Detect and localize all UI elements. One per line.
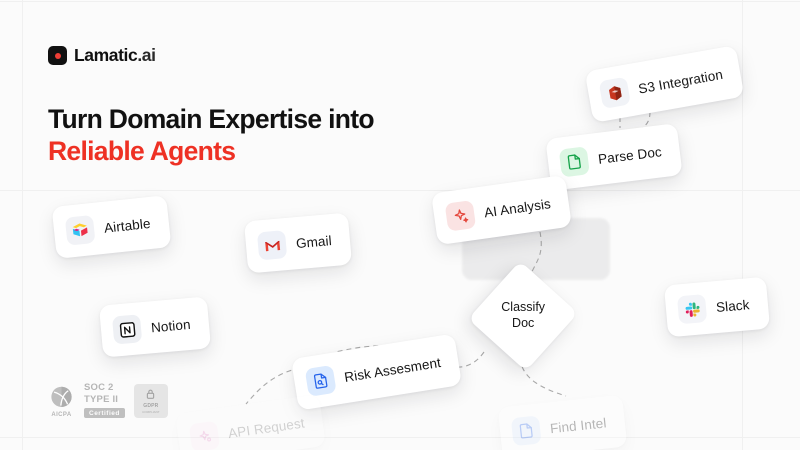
soc2-line-1: SOC 2 (84, 383, 125, 394)
node-card-gmail[interactable]: Gmail (244, 213, 352, 274)
sparkle-icon (445, 200, 477, 232)
certified-badge: Certified (84, 408, 125, 418)
soc2-badge: SOC 2 TYPE II Certified (84, 383, 125, 418)
gdpr-sublabel: COMPLIANT (142, 410, 160, 414)
node-label: S3 Integration (637, 66, 724, 96)
aicpa-badge: AICPA (48, 384, 75, 418)
node-label: AI Analysis (483, 196, 552, 220)
aws-s3-icon (599, 77, 631, 109)
grid-line-vertical (22, 0, 23, 450)
compliance-badges: AICPA SOC 2 TYPE II Certified GDPR COMPL… (48, 383, 168, 418)
page-title: Turn Domain Expertise into Reliable Agen… (48, 103, 374, 168)
grid-line-horizontal (0, 437, 800, 438)
airtable-icon (65, 215, 96, 246)
soc2-line-2: TYPE II (84, 395, 125, 406)
node-card-parse-doc[interactable]: Parse Doc (545, 123, 682, 191)
document-icon (559, 146, 590, 177)
decision-label-line-2: Doc (501, 316, 545, 332)
marketing-hero-canvas: Lamatic.ai Turn Domain Expertise into Re… (0, 0, 800, 450)
grid-line-vertical (742, 0, 743, 450)
node-label: Risk Assesment (343, 354, 442, 384)
brand-wordmark: Lamatic.ai (74, 45, 156, 66)
headline-line-1: Turn Domain Expertise into (48, 103, 374, 135)
node-label: Gmail (295, 233, 332, 251)
document-search-icon (305, 365, 337, 397)
api-sparkle-icon (189, 421, 221, 450)
lamatic-logo-mark-icon (48, 46, 67, 65)
node-label: Slack (715, 297, 750, 315)
node-label: Find Intel (549, 415, 607, 436)
grid-line-horizontal (0, 190, 800, 191)
gdpr-label: GDPR (143, 403, 158, 409)
gdpr-badge: GDPR COMPLIANT (134, 384, 168, 418)
aicpa-label: AICPA (51, 412, 71, 418)
node-label: API Request (227, 415, 305, 441)
decision-label-line-1: Classify (501, 300, 545, 316)
lock-shield-icon (143, 387, 158, 402)
slack-icon (677, 294, 707, 324)
node-card-airtable[interactable]: Airtable (52, 195, 171, 259)
headline-line-2: Reliable Agents (48, 135, 374, 167)
node-label: Parse Doc (597, 144, 662, 167)
node-label: Airtable (103, 215, 151, 235)
brand-suffix: .ai (137, 45, 155, 65)
document-icon (511, 415, 542, 446)
notion-icon (112, 314, 142, 344)
node-card-find-intel[interactable]: Find Intel (498, 395, 627, 450)
aicpa-icon (48, 384, 75, 411)
node-card-notion[interactable]: Notion (99, 296, 211, 357)
node-card-s3-integration[interactable]: S3 Integration (585, 45, 745, 123)
brand-name: Lamatic (74, 45, 137, 65)
grid-line-horizontal (0, 1, 800, 2)
brand-logo[interactable]: Lamatic.ai (48, 45, 156, 66)
node-card-slack[interactable]: Slack (664, 277, 770, 338)
node-card-api-request[interactable]: API Request (175, 394, 326, 450)
gmail-icon (257, 230, 287, 260)
node-label: Notion (150, 316, 191, 334)
